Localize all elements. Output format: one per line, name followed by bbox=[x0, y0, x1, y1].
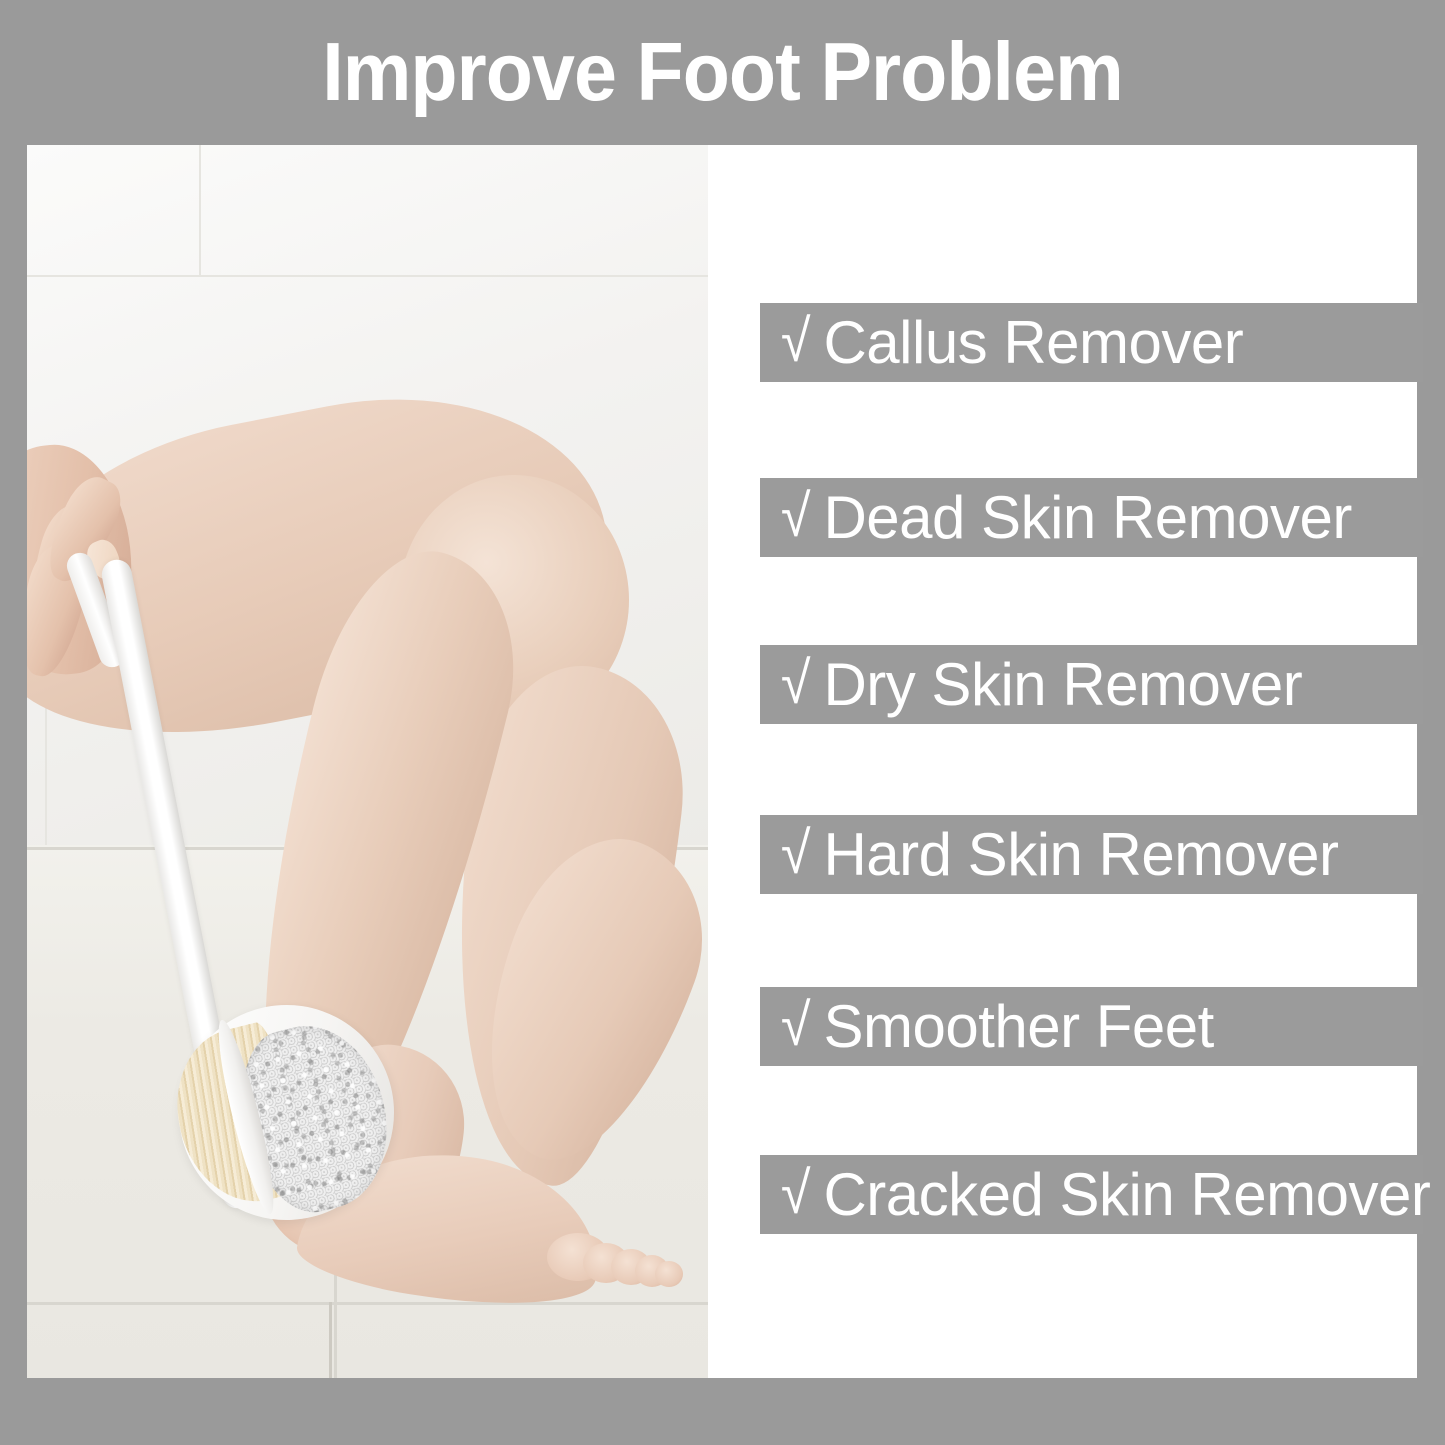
feature-label: Dry Skin Remover bbox=[823, 654, 1302, 716]
floor-grout-vertical-2 bbox=[329, 1302, 332, 1378]
feature-item-dead-skin-remover[interactable]: √ Dead Skin Remover bbox=[760, 478, 1423, 557]
feature-item-hard-skin-remover[interactable]: √ Hard Skin Remover bbox=[760, 815, 1423, 894]
check-icon: √ bbox=[781, 311, 811, 370]
floor-grout-mid bbox=[27, 1302, 708, 1305]
wall-seam-vertical bbox=[199, 145, 201, 277]
feature-item-cracked-skin-remover[interactable]: √ Cracked Skin Remover bbox=[760, 1155, 1423, 1234]
feature-list: √ Callus Remover √ Dead Skin Remover √ D… bbox=[733, 145, 1417, 1378]
check-icon: √ bbox=[781, 653, 811, 712]
feature-item-smoother-feet[interactable]: √ Smoother Feet bbox=[760, 987, 1423, 1066]
check-icon: √ bbox=[781, 823, 811, 882]
feature-label: Smoother Feet bbox=[823, 996, 1213, 1058]
feature-item-callus-remover[interactable]: √ Callus Remover bbox=[760, 303, 1423, 382]
check-icon: √ bbox=[781, 1163, 811, 1222]
product-photo bbox=[27, 145, 708, 1378]
check-icon: √ bbox=[781, 995, 811, 1054]
feature-label: Callus Remover bbox=[823, 312, 1243, 374]
wall-seam-horizontal bbox=[27, 275, 708, 277]
feature-item-dry-skin-remover[interactable]: √ Dry Skin Remover bbox=[760, 645, 1423, 724]
page-title: Improve Foot Problem bbox=[51, 26, 1395, 118]
feature-label: Cracked Skin Remover bbox=[823, 1164, 1430, 1226]
feature-label: Hard Skin Remover bbox=[823, 824, 1338, 886]
content-card: √ Callus Remover √ Dead Skin Remover √ D… bbox=[27, 145, 1417, 1378]
check-icon: √ bbox=[781, 486, 811, 545]
toe-little bbox=[655, 1261, 683, 1287]
feature-label: Dead Skin Remover bbox=[823, 487, 1351, 549]
infographic-root: Improve Foot Problem bbox=[0, 0, 1445, 1445]
